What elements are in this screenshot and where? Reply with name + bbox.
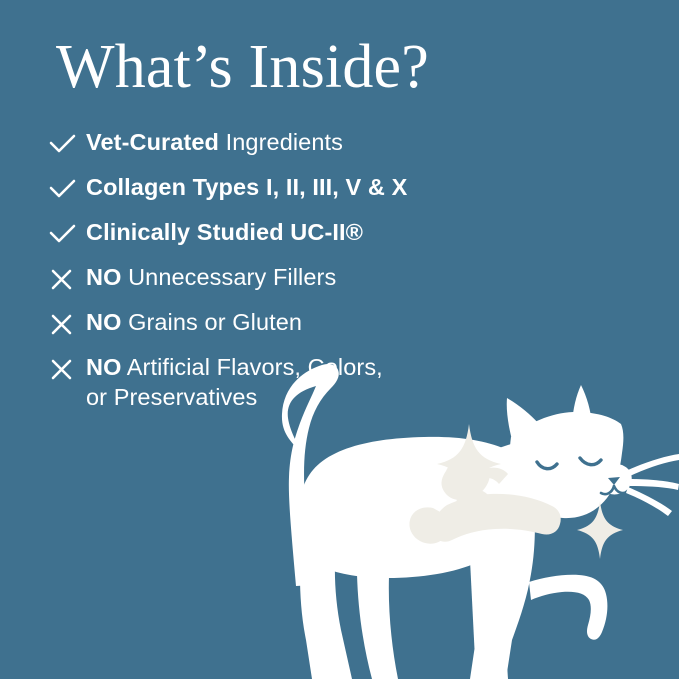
- cat-hind-leg-back: [300, 520, 352, 679]
- list-item-text: NO Artificial Flavors, Colors,or Preserv…: [86, 351, 383, 412]
- cat-eye-left: [537, 462, 557, 469]
- sparkle-icon-small: [577, 501, 623, 559]
- feature-list: Vet-Curated Ingredients Collagen Types I…: [46, 126, 606, 415]
- list-item-bold: Vet-Curated: [86, 129, 219, 155]
- list-item-line2: or Preservatives: [86, 382, 383, 412]
- list-item-text: Vet-Curated Ingredients: [86, 126, 343, 157]
- check-icon: [46, 219, 86, 249]
- cat-muzzle: [598, 464, 632, 495]
- list-item-bold: NO: [86, 309, 121, 335]
- cat-raised-paw: [529, 575, 607, 640]
- cat-hind-leg-front: [357, 574, 398, 679]
- cross-icon: [46, 309, 86, 339]
- list-item-text: Collagen Types I, II, III, V & X: [86, 171, 407, 202]
- list-item-text: Clinically Studied UC-II®: [86, 216, 363, 247]
- cat-nose: [608, 477, 620, 485]
- sparkle-icon-large: [437, 424, 501, 504]
- check-icon: [46, 174, 86, 204]
- cross-icon: [46, 264, 86, 294]
- list-item: NO Unnecessary Fillers: [46, 261, 606, 303]
- list-item-text: NO Grains or Gluten: [86, 306, 302, 337]
- cat-head-shape: [510, 412, 624, 518]
- cat-front-leg-back: [470, 560, 508, 679]
- cat-bow-scarf: [409, 453, 560, 544]
- check-icon: [46, 129, 86, 159]
- cat-body: [299, 437, 535, 679]
- list-item-bold: NO: [86, 264, 121, 290]
- page-title: What’s Inside?: [56, 36, 429, 98]
- cat-neck: [486, 440, 544, 538]
- cross-icon: [46, 354, 86, 384]
- list-item: NO Artificial Flavors, Colors,or Preserv…: [46, 351, 606, 412]
- list-item-rest: Ingredients: [219, 129, 343, 155]
- list-item-bold: NO: [86, 354, 121, 380]
- list-item: NO Grains or Gluten: [46, 306, 606, 348]
- list-item-rest: Artificial Flavors, Colors,: [121, 354, 382, 380]
- cat-whiskers-left: [489, 456, 532, 505]
- cat-whiskers-right: [626, 454, 679, 516]
- list-item: Vet-Curated Ingredients: [46, 126, 606, 168]
- cat-mouth: [601, 486, 628, 494]
- cat-eye-right: [580, 458, 601, 465]
- list-item-text: NO Unnecessary Fillers: [86, 261, 336, 292]
- list-item-rest: Unnecessary Fillers: [121, 264, 336, 290]
- list-item-rest: Grains or Gluten: [121, 309, 302, 335]
- list-item-bold: Collagen Types I, II, III, V & X: [86, 174, 407, 200]
- whats-inside-card: What’s Inside? Vet-Curated Ingredients C…: [0, 0, 679, 679]
- list-item-bold: Clinically Studied UC-II®: [86, 219, 363, 245]
- list-item: Clinically Studied UC-II®: [46, 216, 606, 258]
- list-item: Collagen Types I, II, III, V & X: [46, 171, 606, 213]
